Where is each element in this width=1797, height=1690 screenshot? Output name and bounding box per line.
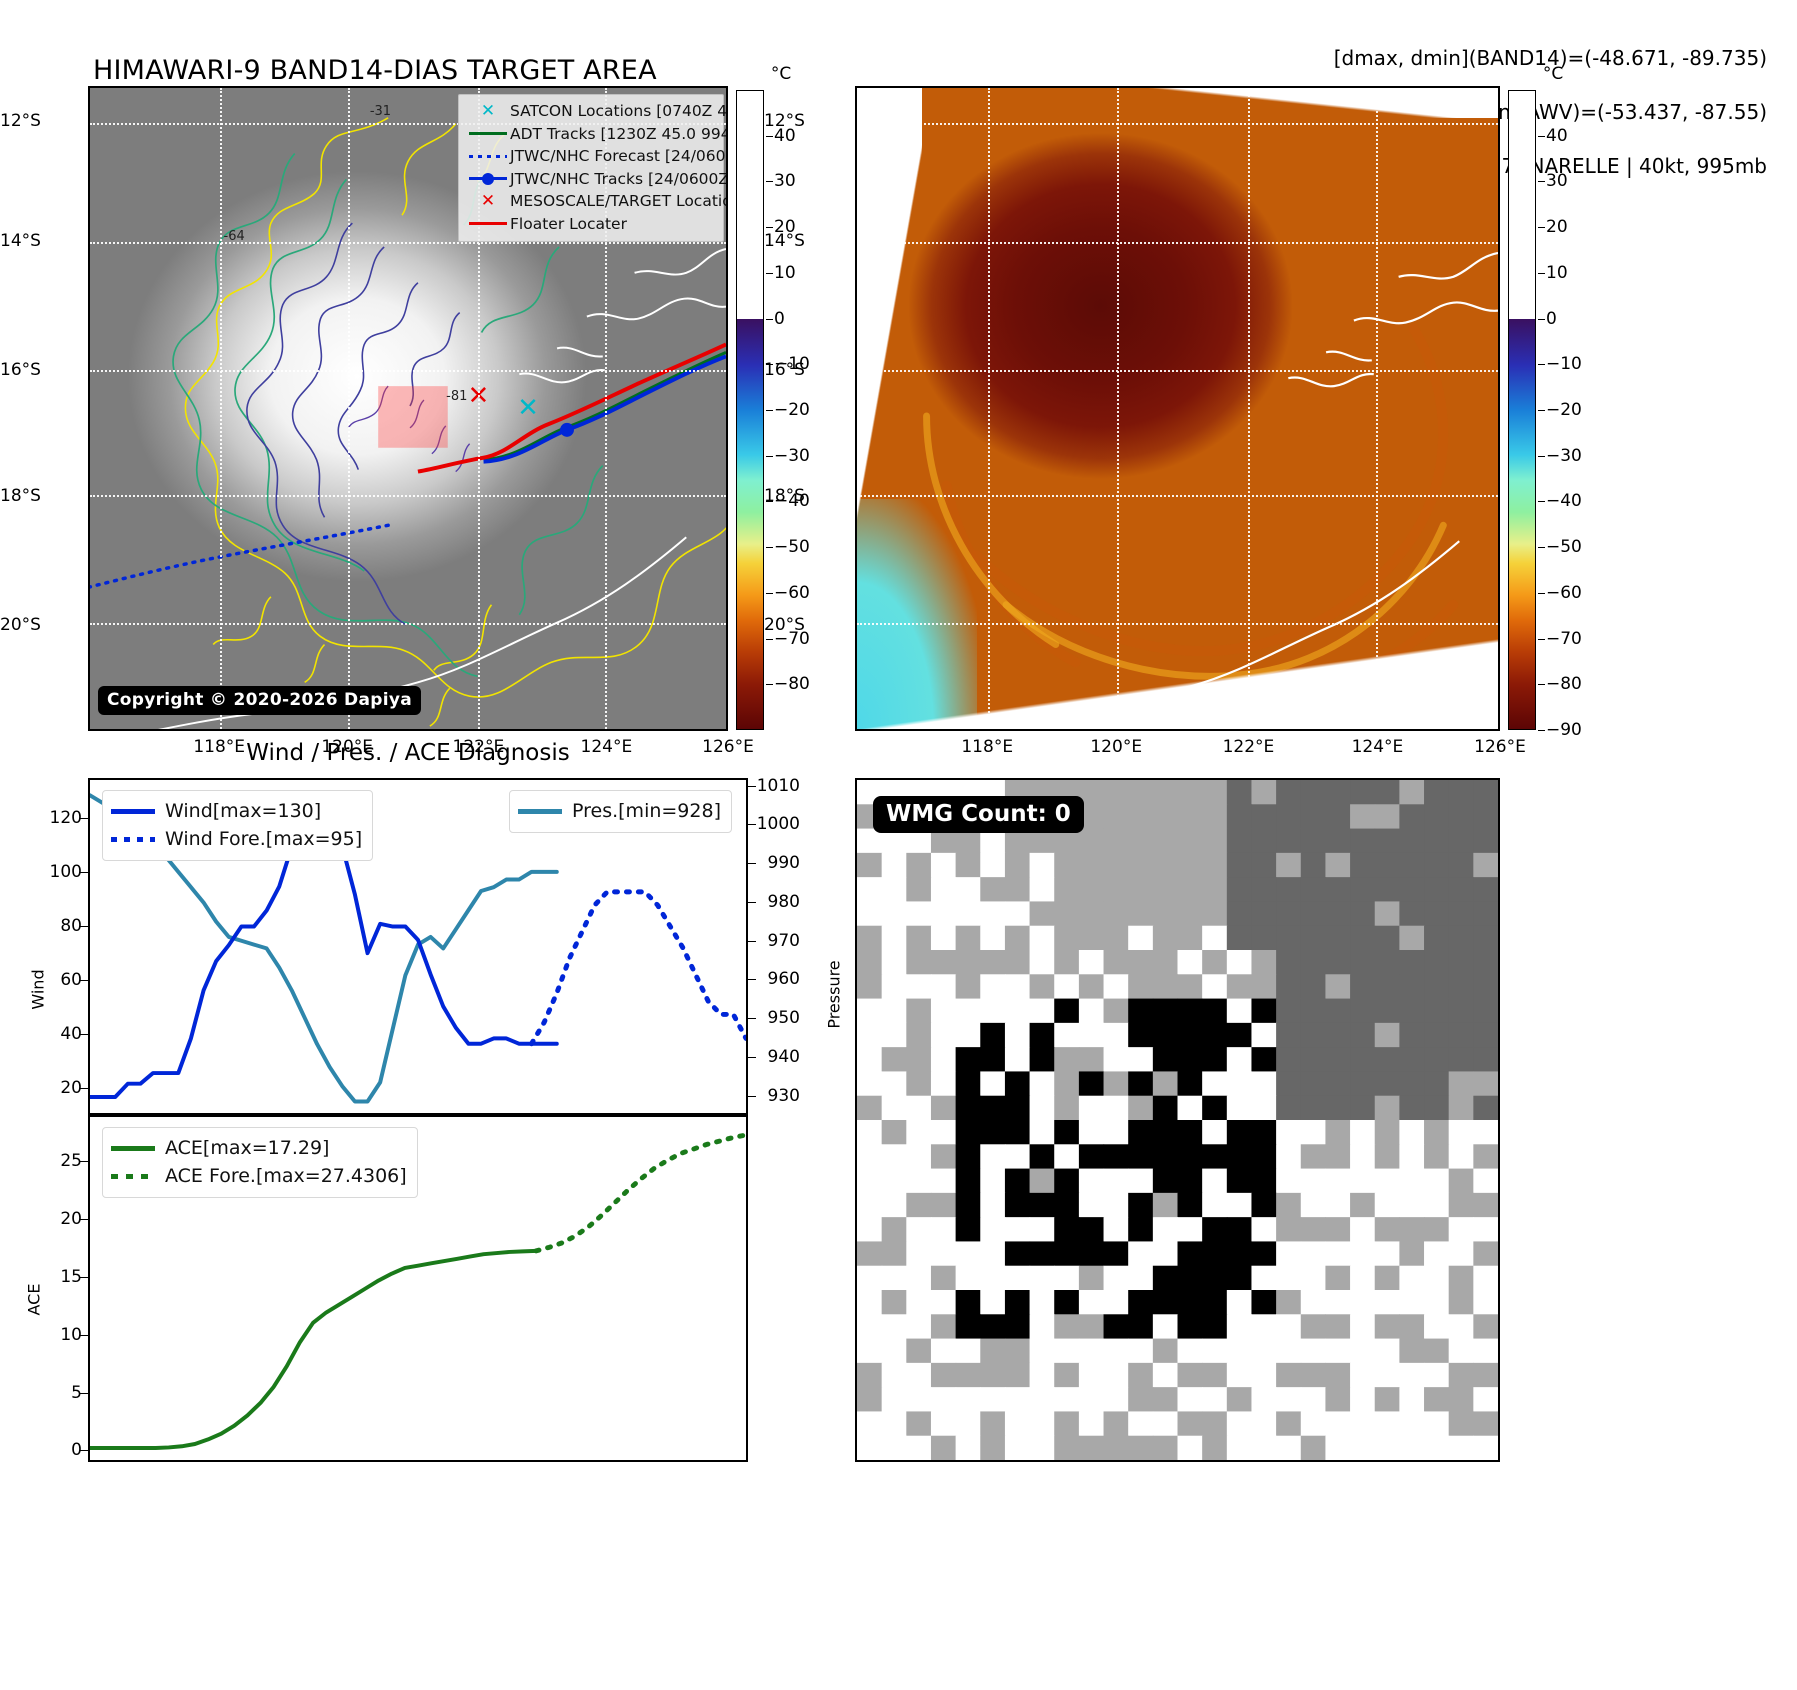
wmg-cell <box>980 1387 1005 1412</box>
axis-tick-label: 0 <box>36 1440 82 1460</box>
wmg-cell <box>857 853 882 878</box>
axis-tick-label: 10 <box>36 1325 82 1345</box>
wmg-cell <box>1251 780 1276 805</box>
wmg-cell <box>1128 1387 1153 1412</box>
wmg-cell <box>1178 1217 1203 1242</box>
wmg-cell <box>931 877 956 902</box>
wmg-cell <box>1153 1290 1178 1315</box>
wmg-cell <box>956 1241 981 1266</box>
wmg-cell <box>1128 1241 1153 1266</box>
wmg-cell <box>1301 1411 1326 1436</box>
wmg-cell <box>1251 1290 1276 1315</box>
wmg-cell <box>1251 1023 1276 1048</box>
wmg-cell <box>1153 877 1178 902</box>
wmg-cell <box>1054 1266 1079 1291</box>
legend-item-wind[interactable]: Wind[max=130] <box>111 797 362 825</box>
wmg-cell <box>980 1363 1005 1388</box>
wmg-cell <box>1178 1363 1203 1388</box>
wmg-cell <box>956 1217 981 1242</box>
wmg-cell <box>1128 804 1153 829</box>
wmg-cell <box>1449 1436 1474 1460</box>
wmg-cell <box>1178 950 1203 975</box>
wmg-cell <box>1178 1290 1203 1315</box>
wmg-cell <box>1005 901 1030 926</box>
wmg-cell <box>1350 1436 1375 1460</box>
wmg-cell <box>956 999 981 1024</box>
wmg-cell <box>980 1096 1005 1121</box>
lat-tick-20s: 20°S <box>0 615 84 635</box>
colorbar-tick-label: 30 <box>774 171 796 191</box>
wmg-cell <box>1128 877 1153 902</box>
wmg-cell <box>1399 1169 1424 1194</box>
wmg-cell <box>906 1266 931 1291</box>
wmg-cell <box>1449 950 1474 975</box>
wmg-cell <box>1325 1241 1350 1266</box>
wmg-cell <box>931 1339 956 1364</box>
wmg-cell <box>980 1071 1005 1096</box>
wmg-cell <box>1153 1096 1178 1121</box>
wmg-cell <box>1128 1217 1153 1242</box>
wmg-cell <box>1325 1023 1350 1048</box>
wmg-cell <box>1030 1241 1055 1266</box>
wmg-cell <box>1079 1339 1104 1364</box>
wmg-cell <box>1104 780 1129 805</box>
wmg-cell <box>1030 1411 1055 1436</box>
wmg-cell <box>1473 926 1498 951</box>
wmg-cell <box>1424 1387 1449 1412</box>
wmg-cell <box>1424 901 1449 926</box>
wmg-cell <box>1030 1071 1055 1096</box>
wmg-cell <box>1153 1266 1178 1291</box>
wmg-cell <box>1079 1290 1104 1315</box>
wmg-cell <box>1079 1217 1104 1242</box>
wmg-cell <box>1005 1071 1030 1096</box>
wmg-cell <box>1473 1120 1498 1145</box>
wmg-microwave-panel[interactable]: WMG Count: 0 <box>855 778 1500 1462</box>
wmg-cell <box>1104 1193 1129 1218</box>
wmg-cell <box>1449 974 1474 999</box>
wmg-cell <box>1251 1363 1276 1388</box>
wmg-cell <box>931 901 956 926</box>
lat2-tick-16s: 16°S <box>764 360 848 380</box>
colorbar-tick-label: 0 <box>1546 309 1557 329</box>
wmg-cell <box>1350 829 1375 854</box>
wmg-cell <box>1030 1096 1055 1121</box>
legend-item-mesoscale[interactable]: ✕ MESOSCALE/TARGET Location <box>466 190 716 213</box>
wmg-cell <box>1301 950 1326 975</box>
axis-tick-label: 990 <box>754 853 800 873</box>
ir-map-legend: ✕ SATCON Locations [0740Z 48 987] ADT Tr… <box>458 94 724 242</box>
legend-item-jtwc-forecast[interactable]: JTWC/NHC Forecast [24/0600Z] <box>466 145 716 168</box>
wmg-cell <box>1399 1314 1424 1339</box>
legend-item-wind-forecast[interactable]: Wind Fore.[max=95] <box>111 825 362 853</box>
wmg-cell <box>1276 1047 1301 1072</box>
wmg-cell <box>1449 901 1474 926</box>
wmg-cell <box>906 1071 931 1096</box>
wmg-cell <box>1449 1193 1474 1218</box>
contour-label-2: -81 <box>446 389 467 404</box>
wmg-cell <box>857 1120 882 1145</box>
wmg-cell <box>980 1047 1005 1072</box>
ace-legend: ACE[max=17.29] ACE Fore.[max=27.4306] <box>102 1127 418 1198</box>
wmg-cell <box>1424 804 1449 829</box>
wmg-cell <box>1350 1241 1375 1266</box>
wmg-cell <box>1375 853 1400 878</box>
wmg-cell <box>1227 1071 1252 1096</box>
wmg-cell <box>1449 1144 1474 1169</box>
legend-item-ace[interactable]: ACE[max=17.29] <box>111 1134 407 1162</box>
wmg-cell <box>1251 901 1276 926</box>
wmg-cell <box>1399 1023 1424 1048</box>
wmg-cell <box>1202 1363 1227 1388</box>
wmg-cell <box>1473 829 1498 854</box>
wmg-cell <box>1473 1217 1498 1242</box>
wmg-cell <box>906 1217 931 1242</box>
wmg-cell <box>1202 804 1227 829</box>
wmg-cell <box>980 1217 1005 1242</box>
colorbar-tick-label: −70 <box>1546 629 1582 649</box>
wmg-cell <box>956 1339 981 1364</box>
wmg-cell <box>857 1436 882 1460</box>
wmg-cell <box>1202 1023 1227 1048</box>
wmg-cell <box>857 999 882 1024</box>
wmg-cell <box>1325 901 1350 926</box>
solid-line-icon <box>466 222 510 225</box>
wmg-cell <box>882 1023 907 1048</box>
wmg-cell <box>1301 1314 1326 1339</box>
wmg-cell <box>1350 1314 1375 1339</box>
wmg-cell <box>1350 877 1375 902</box>
wmg-cell <box>1449 1363 1474 1388</box>
wmg-cell <box>1054 1096 1079 1121</box>
wmg-cell <box>1350 999 1375 1024</box>
wmg-cell <box>1227 1339 1252 1364</box>
wmg-cell <box>1251 1217 1276 1242</box>
wmg-cell <box>1178 1411 1203 1436</box>
wmg-cell <box>1251 950 1276 975</box>
legend-item-satcon[interactable]: ✕ SATCON Locations [0740Z 48 987] <box>466 100 716 123</box>
wmg-cell <box>1128 829 1153 854</box>
wmg-cell <box>1325 1144 1350 1169</box>
wmg-cell <box>1178 1047 1203 1072</box>
wmg-cell <box>1202 999 1227 1024</box>
copyright-badge: Copyright © 2020-2026 Dapiya <box>98 686 421 715</box>
wmg-cell <box>1301 1217 1326 1242</box>
wmg-cell <box>1054 926 1079 951</box>
wmg-cell <box>1399 829 1424 854</box>
wmg-cell <box>1251 1436 1276 1460</box>
ir-band14-map[interactable]: ✕ ✕ -31 -64 -81 ✕ SATCON Locations [0740… <box>88 86 728 731</box>
wmg-cell <box>857 1096 882 1121</box>
wmg-cell <box>1375 877 1400 902</box>
wmg-cell <box>956 1363 981 1388</box>
legend-item-adt[interactable]: ADT Tracks [1230Z 45.0 994.4] <box>466 123 716 146</box>
ace-chart[interactable]: ACE[max=17.29] ACE Fore.[max=27.4306] <box>88 1115 748 1462</box>
wmg-cell <box>1005 853 1030 878</box>
wmg-cell <box>1251 1071 1276 1096</box>
wmg-cell <box>1350 974 1375 999</box>
wmg-cell <box>1079 950 1104 975</box>
wmg-cell <box>1399 1120 1424 1145</box>
wmg-cell <box>1227 1241 1252 1266</box>
wmg-cell <box>1128 1266 1153 1291</box>
wmg-cell <box>857 926 882 951</box>
wmg-cell <box>1178 853 1203 878</box>
wmg-cell <box>1424 1023 1449 1048</box>
wmg-cell <box>1079 1314 1104 1339</box>
wmg-cell <box>1153 1411 1178 1436</box>
wmg-cell <box>1202 1047 1227 1072</box>
wmg-cell <box>1104 974 1129 999</box>
wmg-cell <box>1350 853 1375 878</box>
wmg-cell <box>1449 1411 1474 1436</box>
wmg-cell <box>1227 877 1252 902</box>
wmg-cell <box>1350 1290 1375 1315</box>
wmg-cell <box>1054 1387 1079 1412</box>
wmg-cell <box>1301 1193 1326 1218</box>
wmg-cell <box>1449 999 1474 1024</box>
wmg-cell <box>1128 1339 1153 1364</box>
wmg-cell <box>1251 1314 1276 1339</box>
wmg-cell <box>1424 1071 1449 1096</box>
wmg-cell <box>1325 1290 1350 1315</box>
wmg-cell <box>906 1096 931 1121</box>
wmg-cell <box>1301 1436 1326 1460</box>
wmg-cell <box>1104 804 1129 829</box>
legend-item-jtwc-tracks[interactable]: JTWC/NHC Tracks [24/0600Z] <box>466 168 716 191</box>
wmg-cell <box>1301 1290 1326 1315</box>
wmg-cell <box>1473 1363 1498 1388</box>
wmg-cell <box>1325 1387 1350 1412</box>
wmg-cells-svg <box>857 780 1498 1460</box>
wmg-cell <box>1153 1217 1178 1242</box>
wmg-cell <box>1375 1071 1400 1096</box>
wmg-cell <box>1079 1363 1104 1388</box>
wmg-cell <box>1325 853 1350 878</box>
wmg-cell <box>1301 780 1326 805</box>
wmg-cell <box>956 1193 981 1218</box>
wmg-cell <box>857 1023 882 1048</box>
wmg-cell <box>1054 1217 1079 1242</box>
colorbar-tick-label: −20 <box>1546 400 1582 420</box>
wmg-cell <box>956 950 981 975</box>
wmg-cell <box>882 853 907 878</box>
wmg-cell <box>931 1241 956 1266</box>
wmg-cell <box>931 1314 956 1339</box>
wmg-cell <box>1202 1339 1227 1364</box>
wmg-cell <box>857 1411 882 1436</box>
wmg-cell <box>1375 999 1400 1024</box>
wmg-cell <box>1301 1096 1326 1121</box>
legend-item-floater[interactable]: Floater Locater <box>466 213 716 236</box>
wmg-cell <box>1449 877 1474 902</box>
wmg-cell <box>1375 1023 1400 1048</box>
axis-tick-label: 100 <box>36 862 82 882</box>
wmg-cell <box>1104 829 1129 854</box>
wmg-cell <box>1251 1047 1276 1072</box>
wmg-cell <box>1153 1023 1178 1048</box>
wmg-cell <box>1424 877 1449 902</box>
colorbar-ticks: 403020100−10−20−30−40−50−60−70−80−90 <box>1538 90 1598 730</box>
lon2-tick-120e: 120°E <box>1090 737 1142 757</box>
wmg-cell <box>857 1144 882 1169</box>
wmg-cell <box>1276 1193 1301 1218</box>
wmg-cell <box>1202 1436 1227 1460</box>
wmg-cell <box>980 1436 1005 1460</box>
wmg-cell <box>1301 1071 1326 1096</box>
wmg-cell <box>1251 804 1276 829</box>
wmg-cell <box>1178 1339 1203 1364</box>
wmg-cell <box>1350 1169 1375 1194</box>
wmg-cell <box>1054 1411 1079 1436</box>
wmg-cell <box>1325 1120 1350 1145</box>
wmg-cell <box>857 1047 882 1072</box>
wmg-cell <box>882 1047 907 1072</box>
wmg-cell <box>1350 1120 1375 1145</box>
wmg-cell <box>1227 1314 1252 1339</box>
wmg-cell <box>906 1339 931 1364</box>
wmg-cell <box>931 1144 956 1169</box>
wmg-cell <box>1424 999 1449 1024</box>
wmg-cell <box>1030 1363 1055 1388</box>
wmg-cell <box>1030 877 1055 902</box>
wmg-cell <box>1128 1290 1153 1315</box>
wmg-cell <box>1325 1071 1350 1096</box>
wmg-cell <box>906 1193 931 1218</box>
wmg-cell <box>931 1120 956 1145</box>
wmg-cell <box>1375 1411 1400 1436</box>
wmg-cell <box>1128 1169 1153 1194</box>
wmg-cell <box>1202 780 1227 805</box>
wmg-cell <box>1350 1047 1375 1072</box>
wmg-cell <box>1449 829 1474 854</box>
wind-axis-label: Wind <box>29 969 48 1009</box>
wmg-cell <box>906 1120 931 1145</box>
wmg-cell <box>1128 1144 1153 1169</box>
wmg-cell <box>1054 1023 1079 1048</box>
wmg-cell <box>956 1169 981 1194</box>
lat2-tick-12s: 12°S <box>764 111 848 131</box>
legend-label: JTWC/NHC Forecast [24/0600Z] <box>510 147 728 165</box>
wmg-cell <box>882 1241 907 1266</box>
wmg-cell <box>1473 1096 1498 1121</box>
wmg-cell <box>1350 1363 1375 1388</box>
axis-tick-label: 1010 <box>754 776 800 796</box>
wmg-cell <box>1276 1169 1301 1194</box>
wmg-cell <box>1104 1217 1129 1242</box>
wmg-cell <box>1276 1436 1301 1460</box>
colorbar-tick-label: 20 <box>1546 217 1568 237</box>
map-margin-top <box>857 88 1498 118</box>
wmg-cell <box>1399 974 1424 999</box>
wmg-cell <box>1375 1266 1400 1291</box>
wmg-cell <box>1449 1314 1474 1339</box>
wmg-cell <box>931 1071 956 1096</box>
wmg-cell <box>1449 1266 1474 1291</box>
wmg-cell <box>1375 950 1400 975</box>
wmg-cell <box>906 877 931 902</box>
wmg-cell <box>1153 1241 1178 1266</box>
wmg-cell <box>1399 804 1424 829</box>
wmg-cell <box>980 974 1005 999</box>
wmg-cell <box>931 1047 956 1072</box>
wmg-cell <box>1178 1314 1203 1339</box>
wmg-cell <box>1399 780 1424 805</box>
lon2-tick-124e: 124°E <box>1352 737 1404 757</box>
wmg-cell <box>857 1266 882 1291</box>
wmg-cell <box>1350 901 1375 926</box>
wmg-cell <box>1227 780 1252 805</box>
wmg-cell <box>1325 1193 1350 1218</box>
wmg-cell <box>1104 1436 1129 1460</box>
wmg-cell <box>1030 1266 1055 1291</box>
wmg-cell <box>1104 877 1129 902</box>
wmg-cell <box>931 974 956 999</box>
wmg-cell <box>1079 1120 1104 1145</box>
wind-pressure-chart[interactable]: Wind[max=130] Wind Fore.[max=95] Pres.[m… <box>88 778 748 1115</box>
wmg-cell <box>1473 901 1498 926</box>
lat2-tick-14s: 14°S <box>764 231 848 251</box>
legend-label: Wind Fore.[max=95] <box>165 828 362 850</box>
wmg-cell <box>931 1436 956 1460</box>
legend-item-pressure[interactable]: Pres.[min=928] <box>518 797 721 825</box>
wmg-cell <box>1202 1120 1227 1145</box>
wmg-cell <box>1276 1290 1301 1315</box>
wmg-cell <box>1399 926 1424 951</box>
wmg-cell <box>1375 1193 1400 1218</box>
wmg-cell <box>1030 950 1055 975</box>
wmg-cell <box>1005 1290 1030 1315</box>
wmg-cell <box>931 1411 956 1436</box>
lat-tick-16s: 16°S <box>0 360 84 380</box>
wmg-cell <box>980 1411 1005 1436</box>
wmg-cell <box>1104 1363 1129 1388</box>
wmg-cell <box>1178 901 1203 926</box>
dotted-line-icon <box>111 1174 165 1179</box>
ir-awv-color-map[interactable] <box>855 86 1500 731</box>
wmg-cell <box>1030 1436 1055 1460</box>
wmg-cell <box>1227 901 1252 926</box>
wmg-cell <box>1375 1144 1400 1169</box>
wmg-cell <box>1104 1266 1129 1291</box>
wmg-cell <box>1473 1339 1498 1364</box>
legend-item-ace-forecast[interactable]: ACE Fore.[max=27.4306] <box>111 1162 407 1190</box>
wmg-cell <box>1251 829 1276 854</box>
legend-label: ACE Fore.[max=27.4306] <box>165 1165 407 1187</box>
solid-line-icon <box>518 809 572 814</box>
wmg-cell <box>1301 1339 1326 1364</box>
wmg-cell <box>1424 1363 1449 1388</box>
wind-legend: Wind[max=130] Wind Fore.[max=95] <box>102 790 373 861</box>
colorbar-tick-label: −80 <box>774 674 810 694</box>
wmg-cell <box>1178 829 1203 854</box>
wmg-cell <box>1030 1339 1055 1364</box>
wmg-cell <box>1030 901 1055 926</box>
colorbar-unit: °C <box>736 64 826 84</box>
wmg-cell <box>857 974 882 999</box>
wmg-cell <box>1079 1071 1104 1096</box>
wmg-cell <box>1079 853 1104 878</box>
wmg-cell <box>931 950 956 975</box>
wmg-cell <box>1128 901 1153 926</box>
wmg-cell <box>1227 999 1252 1024</box>
wmg-cell <box>1128 780 1153 805</box>
wmg-cell <box>1473 1436 1498 1460</box>
wmg-cell <box>1202 1290 1227 1315</box>
wmg-cell <box>1153 1120 1178 1145</box>
wmg-cell <box>1301 1120 1326 1145</box>
wmg-cell <box>906 1436 931 1460</box>
